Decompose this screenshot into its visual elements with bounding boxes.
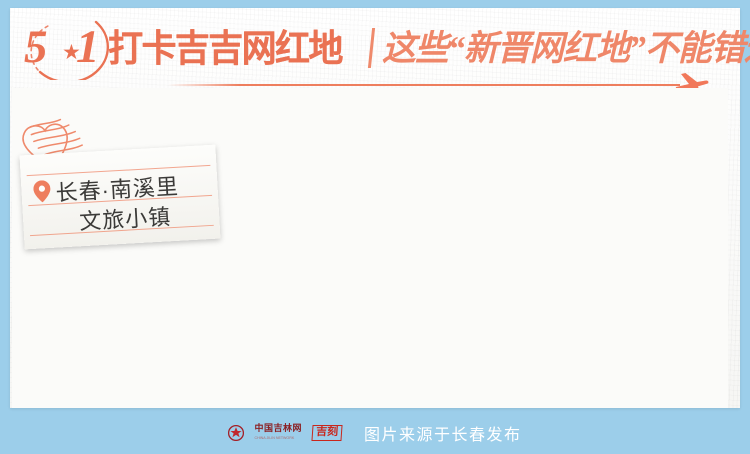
footer-brand-name: 中国吉林网 bbox=[254, 423, 302, 433]
badge-number-five: 5 bbox=[24, 15, 47, 79]
china-jilin-net-logo bbox=[228, 425, 244, 441]
footer: 中国吉林网 CHINA JILIN NETWORK 吉刻 图片来源于长春发布 bbox=[0, 412, 750, 454]
header-underline bbox=[168, 84, 680, 86]
five-one-badge: 5 ★ 1 bbox=[18, 16, 114, 80]
title-divider bbox=[367, 28, 374, 68]
title-main: 打卡吉吉网红地 bbox=[108, 30, 342, 67]
title-sub: 这些“新晋网红地”不能错过 bbox=[382, 31, 750, 66]
photo-container: 快 乐 星 文旅小镇 bbox=[12, 88, 728, 408]
badge-number-one: 1 bbox=[76, 15, 99, 79]
location-pin-icon bbox=[33, 180, 51, 203]
event-photo: 快 乐 星 文旅小镇 bbox=[12, 88, 728, 408]
footer-brand-sub: CHINA JILIN NETWORK bbox=[254, 433, 302, 443]
location-note-card: 长春·南溪里 文旅小镇 bbox=[20, 145, 221, 250]
footer-credit: 图片来源于长春发布 bbox=[364, 421, 522, 445]
poster-root: 5 ★ 1 打卡吉吉网红地 这些“新晋网红地”不能错过 快 乐 星 文旅小镇 bbox=[0, 0, 750, 454]
note-line-2: 文旅小镇 bbox=[78, 199, 172, 236]
jike-badge: 吉刻 bbox=[311, 425, 342, 441]
header: 5 ★ 1 打卡吉吉网红地 这些“新晋网红地”不能错过 bbox=[18, 14, 732, 82]
footer-brand: 中国吉林网 CHINA JILIN NETWORK bbox=[254, 423, 302, 443]
photo-torn-edges bbox=[12, 88, 728, 408]
